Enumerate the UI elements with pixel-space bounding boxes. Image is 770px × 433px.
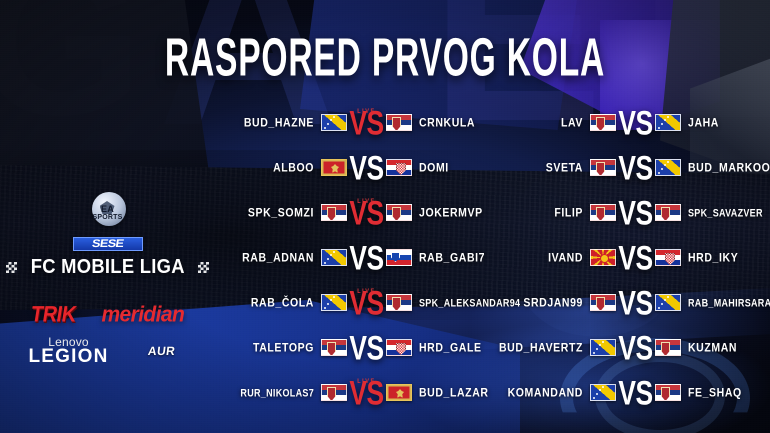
away-player-name: JAHA (688, 115, 719, 129)
bosnia-flag-icon (655, 114, 681, 131)
sponsor-row-2: Lenovo LEGION AUR (0, 336, 215, 366)
away-side[interactable]: BUD_MARKOOO (655, 159, 770, 176)
home-player-name: SVETA (546, 160, 583, 174)
bosnia-flag-icon (590, 384, 616, 401)
away-side[interactable]: RAB_GABI7 (386, 249, 501, 266)
versus-block: LIVEVS (616, 334, 655, 362)
away-player-name: RAB_GABI7 (419, 250, 485, 264)
versus-block: LIVEVS (347, 154, 386, 182)
ea-sports-logo: EA SPORTS (85, 196, 131, 236)
versus-block: LIVEVS (616, 244, 655, 272)
versus-block: LIVEVS (347, 334, 386, 362)
versus-block: LIVEVS (347, 289, 386, 317)
versus-label: VS (349, 110, 383, 138)
match-row[interactable]: FILIPLIVEVSSPK_SAVAZVER (501, 190, 770, 235)
away-side[interactable]: BUD_LAZAR (386, 384, 501, 401)
home-player-name: RUR_NIKOLAS7 (240, 387, 314, 399)
checkered-flag-icon-left (6, 262, 17, 273)
match-row[interactable]: IVANDLIVEVSHRD_IKY (501, 235, 770, 280)
home-player-name: ALBOO (273, 160, 314, 174)
home-player-name: BUD_HAZNE (244, 115, 314, 129)
page-title: RASPORED PRVOG KOLA (77, 27, 693, 88)
away-player-name: SPK_SAVAZVER (688, 207, 763, 219)
match-row[interactable]: SRDJAN99LIVEVSRAB_MAHIRSARAJLIC (501, 280, 770, 325)
legion-label: LEGION (28, 347, 108, 366)
checkered-flag-icon-right (198, 262, 209, 273)
serbia-flag-icon (590, 204, 616, 221)
poster-stage: G A E L K O RASPORED PRVOG KOLA EA SPORT… (0, 0, 770, 433)
away-side[interactable]: SPK_SAVAZVER (655, 204, 770, 221)
match-row[interactable]: RAB_ADNANLIVEVSRAB_GABI7 (232, 235, 501, 280)
sponsor-aur-logo: AUR (137, 338, 187, 364)
match-row[interactable]: BUD_HAVERTZLIVEVSKUZMAN (501, 325, 770, 370)
home-side[interactable]: IVAND (501, 249, 616, 266)
home-player-name: FILIP (554, 205, 583, 219)
home-player-name: BUD_HAVERTZ (499, 340, 583, 354)
sponsor-trik-logo: TRIK (29, 302, 78, 328)
versus-label: VS (349, 245, 383, 273)
serbia-flag-icon (321, 204, 347, 221)
sponsor-meridian-logo: meridian (101, 302, 184, 327)
home-side[interactable]: RAB_ČOLA (232, 294, 347, 311)
versus-block: LIVEVS (616, 154, 655, 182)
away-side[interactable]: RAB_MAHIRSARAJLIC (655, 294, 770, 311)
away-side[interactable]: JOKERMVP (386, 204, 501, 221)
serbia-flag-icon (590, 114, 616, 131)
serbia-flag-icon (655, 384, 681, 401)
montenegro-flag-icon (386, 384, 412, 401)
home-player-name: KOMANDAND (508, 385, 583, 399)
bosnia-flag-icon (321, 294, 347, 311)
home-side[interactable]: ALBOO (232, 159, 347, 176)
versus-block: LIVEVS (616, 199, 655, 227)
home-side[interactable]: BUD_HAZNE (232, 114, 347, 131)
home-side[interactable]: RUR_NIKOLAS7 (232, 384, 347, 401)
home-player-name: SPK_SOMZI (248, 205, 314, 219)
match-row[interactable]: RAB_ČOLALIVEVSSPK_ALEKSANDAR94 (232, 280, 501, 325)
home-player-name: RAB_ADNAN (242, 250, 314, 264)
versus-label: VS (618, 110, 652, 138)
versus-label: VS (618, 290, 652, 318)
match-row[interactable]: LAVLIVEVSJAHA (501, 100, 770, 145)
serbia-flag-icon (321, 339, 347, 356)
home-side[interactable]: BUD_HAVERTZ (501, 339, 616, 356)
versus-label: VS (618, 380, 652, 408)
away-player-name: CRNKULA (419, 115, 475, 129)
home-side[interactable]: LAV (501, 114, 616, 131)
away-player-name: HRD_IKY (688, 250, 738, 264)
away-side[interactable]: HRD_IKY (655, 249, 770, 266)
away-side[interactable]: KUZMAN (655, 339, 770, 356)
home-side[interactable]: SPK_SOMZI (232, 204, 347, 221)
league-title-row: FC MOBILE LIGA (0, 256, 215, 279)
away-side[interactable]: SPK_ALEKSANDAR94 (386, 294, 501, 311)
sports-label: SPORTS (93, 214, 123, 221)
versus-block: LIVEVS (347, 199, 386, 227)
serbia-flag-icon (655, 339, 681, 356)
ea-sports-label: EA SPORTS (85, 205, 131, 222)
croatia-flag-icon (386, 159, 412, 176)
match-row[interactable]: KOMANDANDLIVEVSFE_SHAQ (501, 370, 770, 415)
serbia-flag-icon (590, 159, 616, 176)
montenegro-flag-icon (321, 159, 347, 176)
match-row[interactable]: ALBOOLIVEVSDOMI (232, 145, 501, 190)
bosnia-flag-icon (321, 114, 347, 131)
ea-label: EA (85, 205, 131, 214)
versus-block: LIVEVS (347, 109, 386, 137)
away-player-name: JOKERMVP (419, 205, 483, 219)
versus-label: VS (349, 290, 383, 318)
away-player-name: RAB_MAHIRSARAJLIC (688, 297, 770, 309)
bosnia-flag-icon (655, 294, 681, 311)
bosnia-flag-icon (655, 159, 681, 176)
serbia-flag-icon (655, 204, 681, 221)
versus-block: LIVEVS (347, 379, 386, 407)
away-side[interactable]: HRD_GALE (386, 339, 501, 356)
match-row[interactable]: SPK_SOMZILIVEVSJOKERMVP (232, 190, 501, 235)
versus-label: VS (618, 335, 652, 363)
away-player-name: KUZMAN (688, 340, 737, 354)
versus-label: VS (349, 380, 383, 408)
away-player-name: DOMI (419, 160, 449, 174)
home-side[interactable]: FILIP (501, 204, 616, 221)
home-side[interactable]: SRDJAN99 (501, 294, 616, 311)
slovenia-flag-icon (386, 249, 412, 266)
away-player-name: BUD_LAZAR (419, 385, 489, 399)
serbia-flag-icon (386, 294, 412, 311)
bosnia-flag-icon (321, 249, 347, 266)
match-row[interactable]: RUR_NIKOLAS7LIVEVSBUD_LAZAR (232, 370, 501, 415)
versus-block: LIVEVS (616, 379, 655, 407)
brand-block: EA SPORTS SESE FC MOBILE LIGA TRIK merid… (0, 196, 215, 366)
away-player-name: FE_SHAQ (688, 385, 742, 399)
versus-label: VS (618, 155, 652, 183)
league-name: FC MOBILE LIGA (30, 256, 184, 279)
home-player-name: TALETOPG (253, 340, 314, 354)
versus-block: LIVEVS (616, 289, 655, 317)
left-column: BUD_HAZNELIVEVSCRNKULAALBOOLIVEVSDOMISPK… (232, 100, 501, 415)
bosnia-flag-icon (590, 339, 616, 356)
versus-label: VS (349, 200, 383, 228)
macedonia-flag-icon (590, 249, 616, 266)
away-side[interactable]: CRNKULA (386, 114, 501, 131)
match-row[interactable]: BUD_HAZNELIVEVSCRNKULA (232, 100, 501, 145)
serbia-flag-icon (386, 204, 412, 221)
croatia-flag-icon (655, 249, 681, 266)
sponsor-row-1: TRIK meridian (0, 303, 215, 327)
away-player-name: HRD_GALE (419, 340, 482, 354)
match-row[interactable]: TALETOPGLIVEVSHRD_GALE (232, 325, 501, 370)
away-player-name: BUD_MARKOOO (688, 160, 770, 174)
croatia-flag-icon (386, 339, 412, 356)
away-side[interactable]: FE_SHAQ (655, 384, 770, 401)
home-side[interactable]: KOMANDAND (501, 384, 616, 401)
versus-label: VS (349, 155, 383, 183)
home-player-name: LAV (561, 115, 583, 129)
versus-label: VS (618, 200, 652, 228)
serbia-flag-icon (386, 114, 412, 131)
home-side[interactable]: TALETOPG (232, 339, 347, 356)
versus-label: VS (618, 245, 652, 273)
aur-label: AUR (147, 344, 176, 358)
home-player-name: SRDJAN99 (523, 295, 583, 309)
match-columns: BUD_HAZNELIVEVSCRNKULAALBOOLIVEVSDOMISPK… (232, 100, 770, 415)
home-side[interactable]: SVETA (501, 159, 616, 176)
serbia-flag-icon (590, 294, 616, 311)
sese-label: SESE (91, 238, 124, 250)
sponsor-block: TRIK meridian Lenovo LEGION AUR (0, 303, 215, 366)
home-side[interactable]: RAB_ADNAN (232, 249, 347, 266)
match-row[interactable]: SVETALIVEVSBUD_MARKOOO (501, 145, 770, 190)
versus-label: VS (349, 335, 383, 363)
away-side[interactable]: JAHA (655, 114, 770, 131)
versus-block: LIVEVS (616, 109, 655, 137)
versus-block: LIVEVS (347, 244, 386, 272)
home-player-name: IVAND (548, 250, 583, 264)
sese-badge: SESE (73, 237, 143, 251)
right-column: LAVLIVEVSJAHASVETALIVEVSBUD_MARKOOOFILIP… (501, 100, 770, 415)
serbia-flag-icon (321, 384, 347, 401)
away-side[interactable]: DOMI (386, 159, 501, 176)
home-player-name: RAB_ČOLA (251, 295, 314, 309)
sponsor-lenovo-legion-logo: Lenovo LEGION (28, 336, 108, 366)
